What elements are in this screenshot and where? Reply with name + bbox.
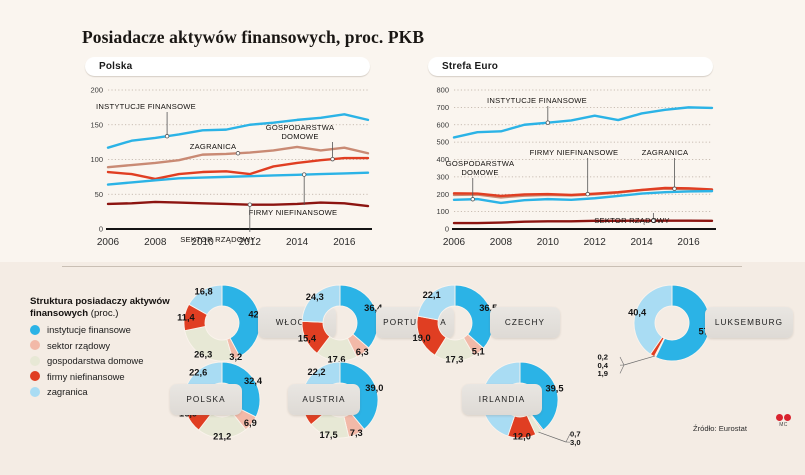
pies-title-unit: (proc.): [88, 308, 118, 319]
pie-value-label: 11,4: [177, 313, 195, 323]
section-divider: [62, 266, 742, 267]
svg-text:2010: 2010: [537, 237, 560, 248]
svg-text:2016: 2016: [677, 237, 700, 248]
page-title: Posiadacze aktywów finansowych, proc. PK…: [82, 27, 424, 48]
legend-swatch-icon: [30, 387, 40, 397]
pie-value-label: 22,1: [423, 290, 441, 300]
svg-text:2016: 2016: [333, 237, 356, 248]
country-label-text: LUKSEMBURG: [715, 318, 783, 327]
legend-swatch-icon: [30, 356, 40, 366]
line-chart-polska: 050100150200200620082010201220142016INST…: [78, 82, 378, 257]
pie-value-label: 19,0: [413, 333, 431, 343]
svg-text:2006: 2006: [443, 237, 466, 248]
svg-text:INSTYTUCJE FINANSOWE: INSTYTUCJE FINANSOWE: [487, 96, 587, 105]
pie-value-label: 6,9: [244, 418, 257, 428]
svg-text:300: 300: [436, 172, 449, 181]
svg-text:DOMOWE: DOMOWE: [281, 132, 318, 141]
legend-item-3: firmy niefinansowe: [30, 369, 143, 385]
svg-text:2014: 2014: [631, 237, 654, 248]
svg-text:2006: 2006: [97, 237, 120, 248]
pie-value-label: 22,6: [189, 368, 207, 378]
svg-text:FIRMY NIEFINANSOWE: FIRMY NIEFINANSOWE: [249, 208, 338, 217]
logo-dots-icon: [776, 414, 791, 421]
svg-text:INSTYTUCJE FINANSOWE: INSTYTUCJE FINANSOWE: [96, 102, 196, 111]
pie-slice: [340, 285, 378, 348]
country-label-czechy: CZECHY: [490, 307, 560, 338]
pie-value-label: 12,0: [513, 432, 531, 442]
svg-text:ZAGRANICA: ZAGRANICA: [190, 142, 237, 151]
pie-value-label: 22,2: [308, 367, 326, 377]
pie-value-label: 24,3: [306, 292, 324, 302]
pie-value-label: 39,0: [365, 383, 383, 393]
pie-value-label: 32,4: [244, 376, 263, 386]
svg-text:100: 100: [436, 207, 449, 216]
svg-text:700: 700: [436, 103, 449, 112]
logo-label: MC: [776, 422, 791, 428]
pie-value-label: 39,5: [545, 383, 563, 393]
svg-text:2014: 2014: [286, 237, 309, 248]
country-label-austria: AUSTRIA: [288, 384, 360, 415]
pies-section-title: Struktura posiadaczy aktywów finansowych…: [30, 296, 180, 320]
svg-text:500: 500: [436, 138, 449, 147]
chart-pill-label-polska: Polska: [85, 61, 132, 72]
legend-item-4: zagranica: [30, 384, 143, 400]
svg-text:GOSPODARSTWA: GOSPODARSTWA: [446, 159, 515, 168]
legend-item-label: sektor rządowy: [47, 340, 110, 351]
country-label-text: IRLANDIA: [479, 395, 526, 404]
pies-legend: instytucje finansowesektor rządowygospod…: [30, 322, 143, 400]
line-chart-strefa-euro: 0100200300400500600700800200620082010201…: [422, 82, 722, 257]
country-label-polska: POLSKA: [170, 384, 242, 415]
country-label-text: POLSKA: [186, 395, 225, 404]
pie-value-label: 21,2: [213, 432, 231, 442]
legend-swatch-icon: [30, 371, 40, 381]
svg-text:800: 800: [436, 86, 449, 95]
legend-item-label: gospodarstwa domowe: [47, 355, 143, 366]
svg-text:GOSPODARSTWA: GOSPODARSTWA: [266, 123, 335, 132]
chart-pill-label-strefa-euro: Strefa Euro: [428, 61, 498, 72]
svg-text:SEKTOR RZĄDOWY: SEKTOR RZĄDOWY: [594, 216, 670, 225]
legend-item-label: zagranica: [47, 386, 88, 397]
svg-text:50: 50: [95, 190, 103, 199]
svg-text:200: 200: [90, 86, 103, 95]
chart-pill-polska: Polska: [85, 57, 370, 76]
svg-text:DOMOWE: DOMOWE: [461, 168, 498, 177]
pies-title-line1: Struktura posiadaczy aktywów: [30, 296, 170, 307]
pie-value-label: 15,4: [298, 334, 317, 344]
legend-item-label: instytucje finansowe: [47, 324, 131, 335]
svg-text:100: 100: [90, 155, 103, 164]
svg-text:2008: 2008: [490, 237, 513, 248]
svg-text:0: 0: [445, 225, 449, 234]
pie-value-label-small: 3,0: [570, 438, 581, 447]
chart-pill-strefa-euro: Strefa Euro: [428, 57, 713, 76]
svg-text:ZAGRANICA: ZAGRANICA: [642, 148, 689, 157]
country-label-irlandia: IRLANDIA: [462, 384, 542, 415]
legend-item-0: instytucje finansowe: [30, 322, 143, 338]
pie-value-label: 40,4: [628, 307, 647, 317]
pie-value-label: 17,3: [445, 355, 463, 365]
legend-item-1: sektor rządowy: [30, 338, 143, 354]
legend-swatch-icon: [30, 325, 40, 335]
pies-title-line2: finansowych: [30, 308, 88, 319]
svg-text:600: 600: [436, 120, 449, 129]
svg-text:150: 150: [90, 120, 103, 129]
country-label-text: AUSTRIA: [302, 395, 345, 404]
pie-value-label: 16,8: [195, 287, 213, 297]
svg-text:0: 0: [99, 225, 103, 234]
svg-text:FIRMY NIEFINANSOWE: FIRMY NIEFINANSOWE: [530, 148, 619, 157]
svg-text:200: 200: [436, 190, 449, 199]
country-label-luksemburg: LUKSEMBURG: [705, 307, 793, 338]
country-label-text: CZECHY: [505, 318, 545, 327]
pie-value-label: 7,3: [350, 428, 363, 438]
svg-text:2012: 2012: [584, 237, 607, 248]
pie-value-label-small: 1,9: [597, 369, 608, 378]
legend-item-2: gospodarstwa domowe: [30, 353, 143, 369]
logo-dot-icon: [776, 414, 783, 421]
pie-value-label: 17,5: [320, 430, 338, 440]
source-note: Źródło: Eurostat: [693, 424, 747, 433]
publisher-logo: MC: [776, 414, 791, 428]
infographic-page: Posiadacze aktywów finansowych, proc. PK…: [0, 0, 805, 475]
legend-item-label: firmy niefinansowe: [47, 371, 125, 382]
svg-text:2008: 2008: [144, 237, 167, 248]
legend-swatch-icon: [30, 340, 40, 350]
svg-text:SEKTOR RZĄDOWY: SEKTOR RZĄDOWY: [180, 235, 256, 244]
logo-dot-icon: [784, 414, 791, 421]
pie-slice: [302, 285, 340, 322]
